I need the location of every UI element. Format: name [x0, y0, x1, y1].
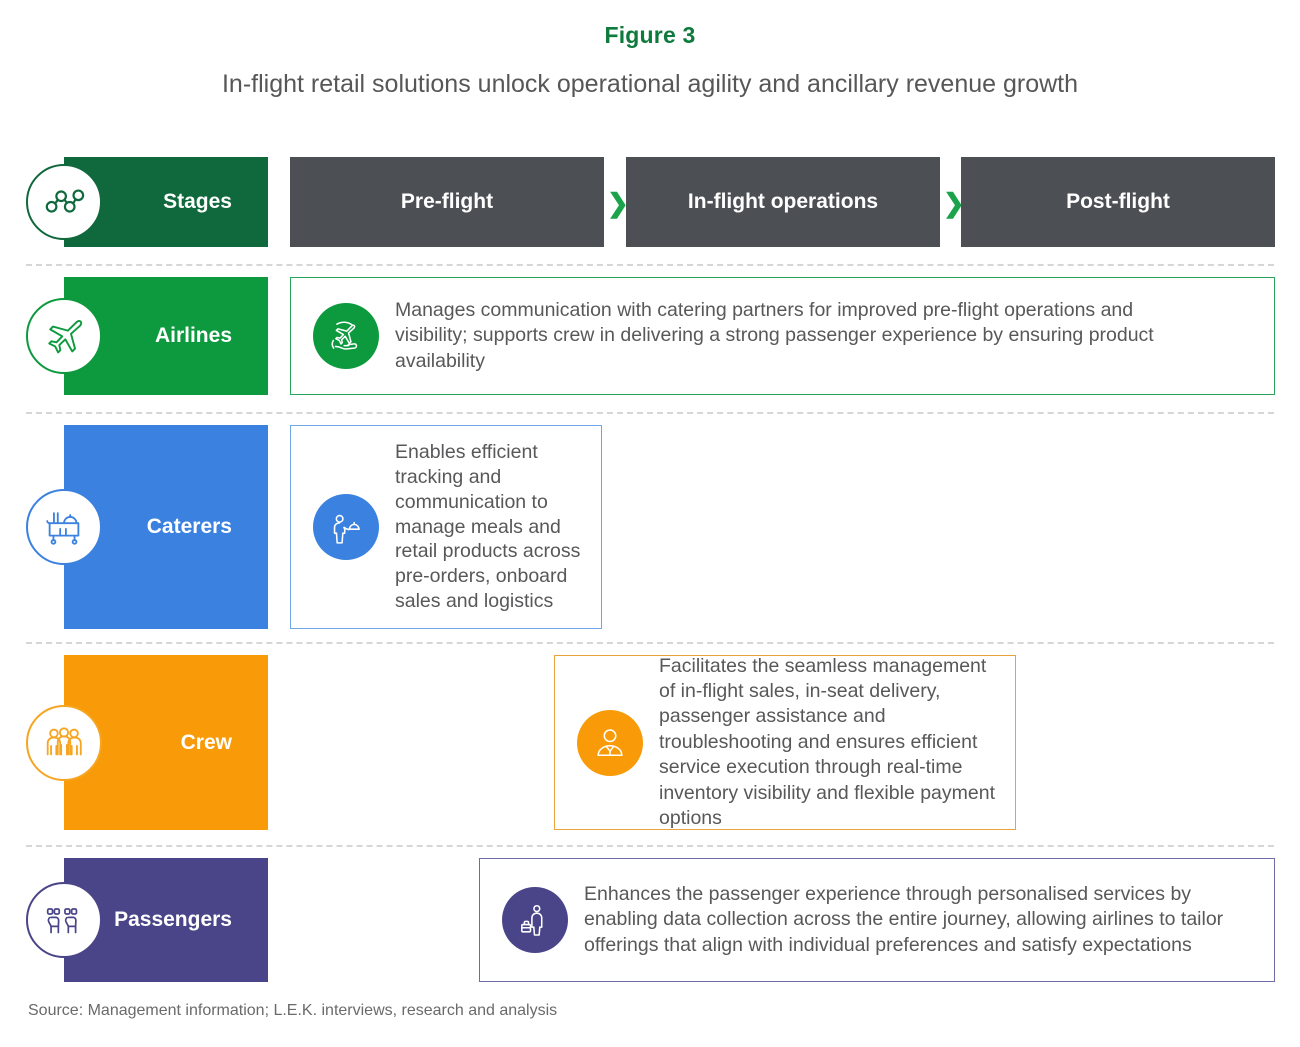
stage-chip-pre-flight-label: Pre-flight [401, 190, 493, 214]
row-label-airlines: Airlines [64, 277, 268, 395]
card-airlines: Manages communication with catering part… [290, 277, 1275, 395]
three-people-icon [26, 705, 102, 781]
row-label-airlines-text: Airlines [155, 324, 232, 348]
row-separator-1 [26, 264, 1274, 266]
stage-chip-in-flight-operations-label: In-flight operations [688, 190, 878, 214]
row-label-passengers-text: Passengers [114, 908, 232, 932]
row-label-stages: Stages [64, 157, 268, 247]
airplane-icon [26, 298, 102, 374]
network-nodes-icon [26, 164, 102, 240]
stage-chip-in-flight-operations[interactable]: In-flight operations [626, 157, 940, 247]
row-label-caterers: Caterers [64, 425, 268, 629]
stage-chip-post-flight-label: Post-flight [1066, 190, 1170, 214]
row-label-stages-text: Stages [163, 190, 232, 214]
card-caterers-text: Enables efficient tracking and communica… [395, 440, 601, 615]
waiter-tray-icon [313, 494, 379, 560]
hand-holding-plane-icon [313, 303, 379, 369]
passenger-with-bag-icon [502, 887, 568, 953]
card-caterers: Enables efficient tracking and communica… [290, 425, 602, 629]
card-crew-text: Facilitates the seamless management of i… [659, 654, 1015, 831]
row-label-passengers: Passengers [64, 858, 268, 982]
row-label-crew: Crew [64, 655, 268, 830]
card-airlines-text: Manages communication with catering part… [395, 298, 1179, 374]
stage-chip-pre-flight[interactable]: Pre-flight [290, 157, 604, 247]
page-title: In-flight retail solutions unlock operat… [0, 70, 1300, 99]
row-label-crew-text: Crew [181, 731, 232, 755]
row-separator-3 [26, 642, 1274, 644]
figure-label: Figure 3 [0, 22, 1300, 49]
card-crew: Facilitates the seamless management of i… [554, 655, 1016, 830]
row-label-caterers-text: Caterers [147, 515, 232, 539]
row-separator-4 [26, 845, 1274, 847]
source-note: Source: Management information; L.E.K. i… [28, 1002, 557, 1020]
row-separator-2 [26, 412, 1274, 414]
crew-member-icon [577, 710, 643, 776]
card-passengers: Enhances the passenger experience throug… [479, 858, 1275, 982]
card-passengers-text: Enhances the passenger experience throug… [584, 882, 1238, 958]
seated-passengers-icon [26, 882, 102, 958]
stage-chip-post-flight[interactable]: Post-flight [961, 157, 1275, 247]
food-trolley-icon [26, 489, 102, 565]
